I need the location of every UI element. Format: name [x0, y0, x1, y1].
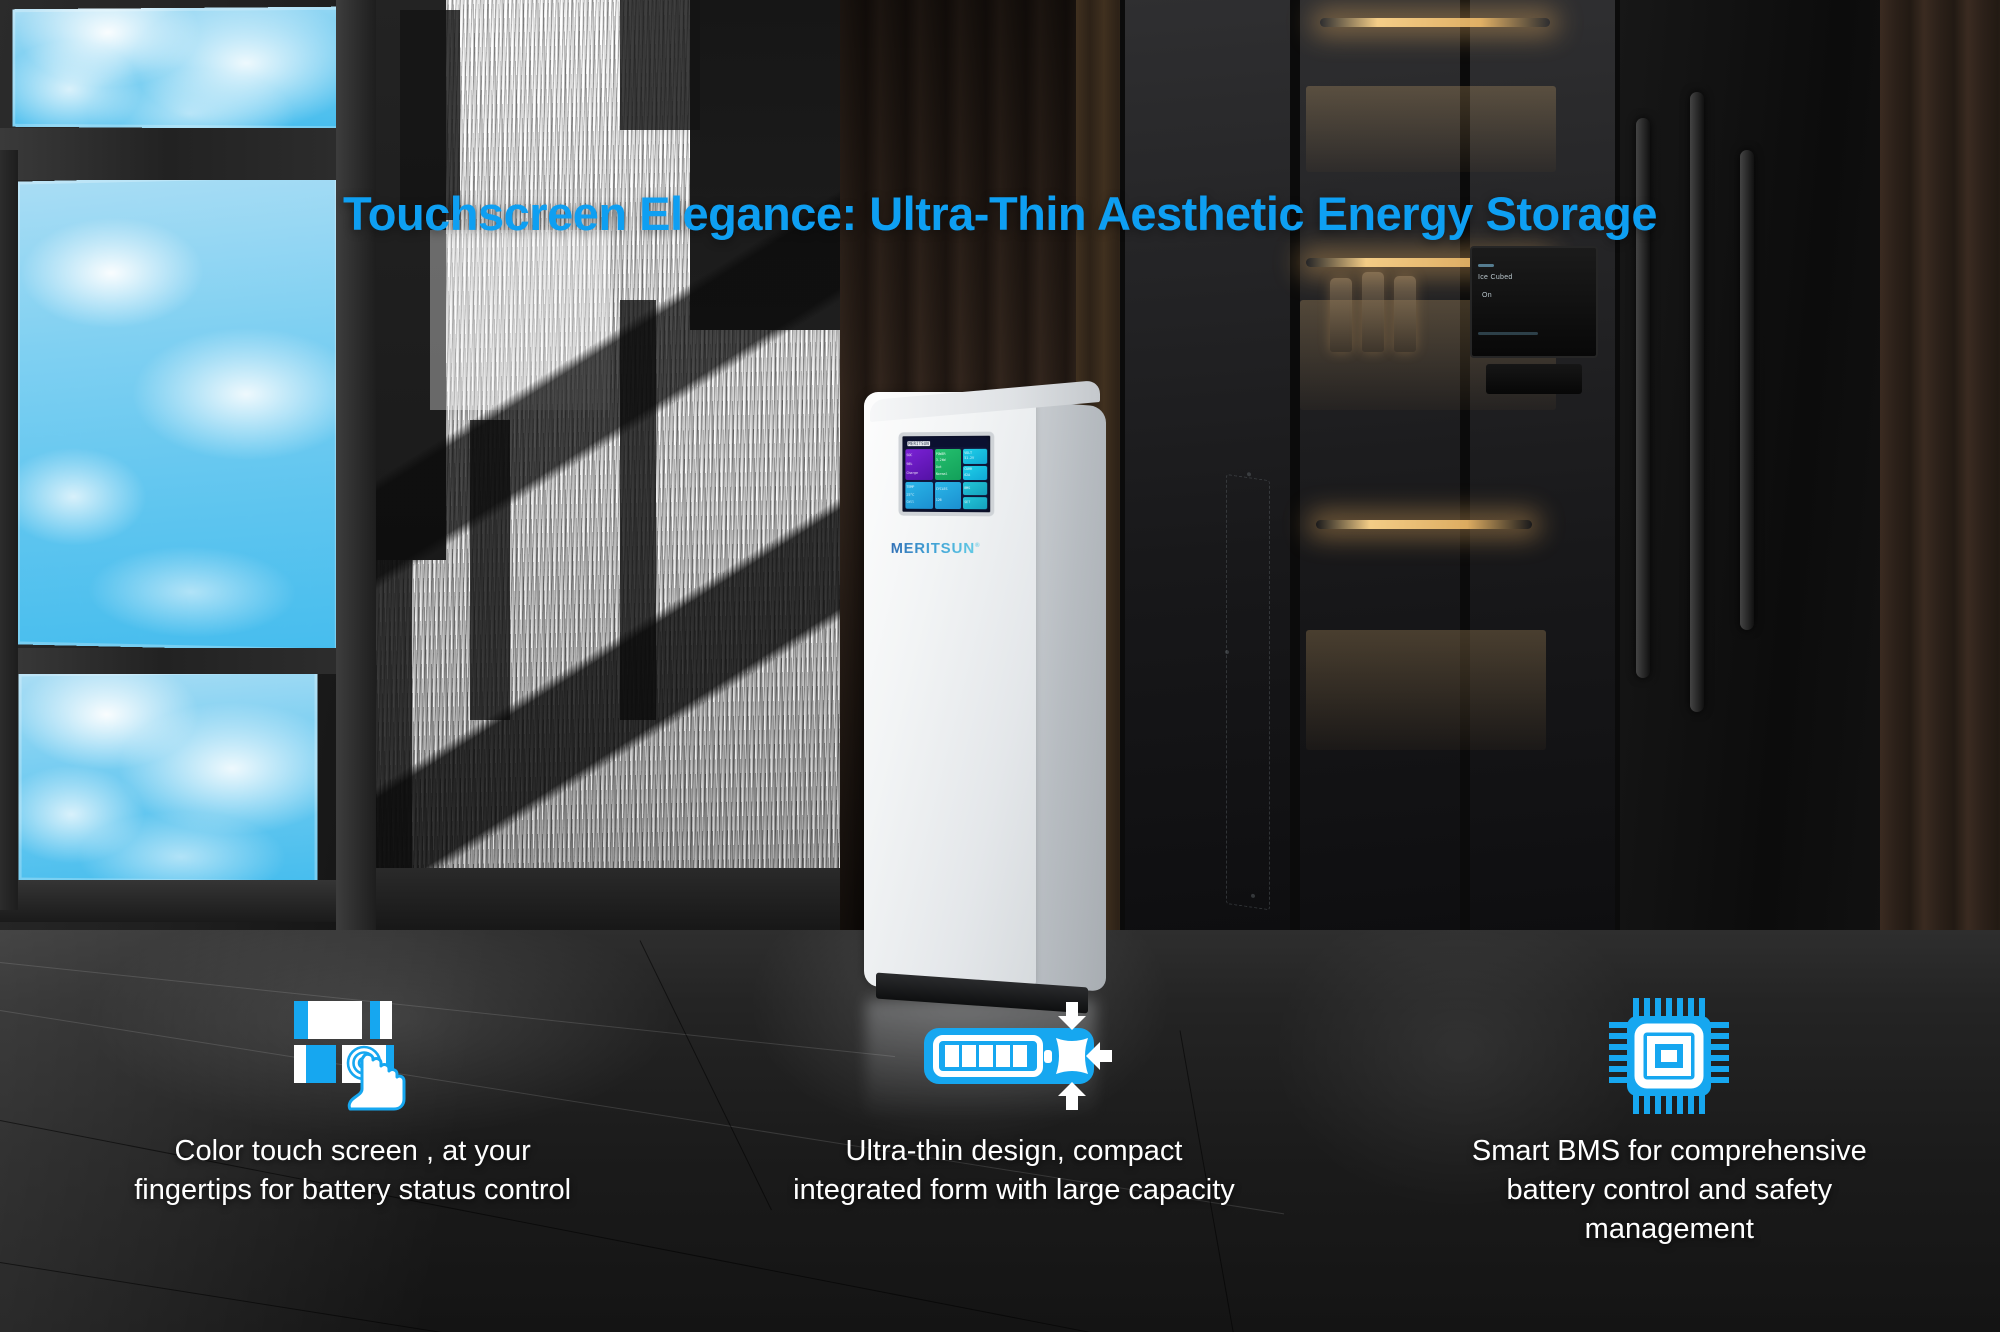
feature-caption-touchscreen: Color touch screen , at your fingertips …: [118, 1132, 588, 1210]
product-touchscreen-display[interactable]: MERITSUN SOC 98% Charge POWER 3.2kW Out …: [899, 432, 995, 517]
window-pane-main: [17, 174, 338, 651]
fridge-handle[interactable]: [1690, 92, 1704, 712]
screen-tile-soc[interactable]: SOC 98% Charge: [905, 449, 932, 480]
product-brand-logo: MERITSUN®: [891, 540, 981, 557]
product-service-hatch: [1226, 474, 1270, 910]
page-title: Touchscreen Elegance: Ultra-Thin Aesthet…: [0, 186, 2000, 241]
refrigerator: [1620, 0, 1900, 1040]
fridge-panel-line2: On: [1482, 292, 1492, 299]
screen-tile-bms[interactable]: BMS: [963, 482, 987, 494]
feature-item-ultra-thin: Ultra-thin design, compact integrated fo…: [683, 996, 1344, 1210]
window-pane-lower: [19, 670, 318, 883]
feature-caption-ultra-thin: Ultra-thin design, compact integrated fo…: [779, 1132, 1249, 1210]
screen-brand-label: MERITSUN: [907, 441, 930, 446]
fridge-panel-line1: Ice Cubed: [1478, 274, 1513, 281]
product-front-face: MERITSUN SOC 98% Charge POWER 3.2kW Out …: [864, 392, 1036, 987]
wall-shadow-panel: [690, 0, 860, 330]
screen-tile-cycles[interactable]: CYCLES 126: [935, 482, 961, 509]
cabinet-shelf: [1306, 86, 1556, 172]
ultra-thin-battery-compress-icon: [914, 996, 1114, 1116]
feature-caption-bms: Smart BMS for comprehensive battery cont…: [1434, 1132, 1904, 1249]
energy-storage-battery-unit[interactable]: MERITSUN SOC 98% Charge POWER 3.2kW Out …: [864, 392, 1104, 1017]
window-pane-top: [12, 7, 340, 130]
stone-block: [620, 0, 700, 130]
window-mullion-horizontal: [0, 648, 360, 674]
fridge-control-panel[interactable]: Ice Cubed On: [1470, 246, 1598, 358]
shelf-led-strip: [1320, 18, 1550, 27]
wood-pillar: [1880, 0, 2000, 1070]
wall-baseboard: [376, 868, 876, 938]
stone-block: [470, 420, 510, 720]
screen-tile-power[interactable]: POWER 3.2kW Out Normal: [935, 449, 961, 480]
bottle: [1330, 278, 1352, 352]
banner-stage: Ice Cubed On Touchscreen Elegance: Ultra…: [0, 0, 2000, 1332]
shelf-led-strip: [1316, 520, 1532, 529]
window-sill: [0, 880, 356, 922]
screen-tile-temp[interactable]: TEMP 25°C Cell: [905, 482, 932, 509]
brand-name: MERITSUN: [891, 540, 975, 557]
sky-window: [0, 0, 380, 940]
bottle: [1362, 272, 1384, 352]
screen-right-column: VOLT 51.2V CURR 62A: [963, 449, 987, 481]
bottle: [1394, 276, 1416, 352]
screen-right-column-lower: BMS SET: [963, 482, 987, 509]
window-mullion-horizontal: [0, 128, 372, 180]
window-mullion-vertical: [0, 150, 18, 910]
screen-tile-grid: SOC 98% Charge POWER 3.2kW Out Normal VO…: [905, 449, 987, 509]
bms-chip-icon: [1607, 996, 1731, 1116]
screen-tile-voltage[interactable]: VOLT 51.2V: [963, 449, 987, 464]
screen-status-bar: MERITSUN: [905, 439, 987, 447]
trademark-symbol: ®: [975, 543, 980, 549]
feature-item-touchscreen: Color touch screen , at your fingertips …: [22, 996, 683, 1210]
stone-block: [620, 300, 656, 720]
screen-tile-current[interactable]: CURR 62A: [963, 466, 987, 481]
stone-block: [376, 560, 412, 890]
feature-list: Color touch screen , at your fingertips …: [0, 996, 2000, 1296]
product-side-panel: [1032, 401, 1106, 991]
feature-item-bms: Smart BMS for comprehensive battery cont…: [1339, 996, 2000, 1249]
window-mullion-vertical: [336, 0, 380, 930]
touchscreen-tiles-hand-icon: [288, 996, 418, 1116]
stone-highlight: [430, 230, 610, 410]
water-dispenser[interactable]: [1486, 364, 1582, 394]
cabinet-shelf: [1306, 630, 1546, 750]
screen-tile-settings[interactable]: SET: [963, 497, 987, 510]
